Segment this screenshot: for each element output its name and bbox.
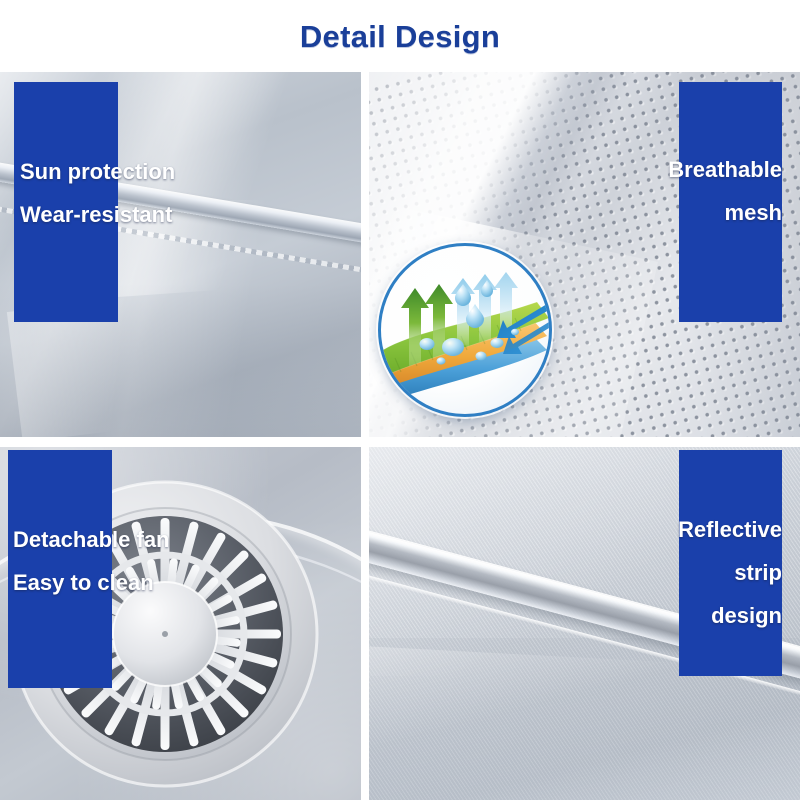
fan-hub-screw (162, 631, 168, 637)
caption-line: Wear-resistant (20, 193, 175, 236)
caption-line: strip (678, 551, 782, 594)
caption-line: Easy to clean (13, 561, 170, 604)
page-title-bar: Detail Design (0, 0, 800, 72)
caption-breathable-mesh: Breathable mesh (668, 148, 782, 234)
caption-sun-protection: Sun protection Wear-resistant (20, 150, 175, 236)
caption-line: Sun protection (20, 150, 175, 193)
page-title: Detail Design (300, 21, 500, 52)
caption-line: Detachable fan (13, 518, 170, 561)
caption-line: design (678, 594, 782, 637)
breathability-diagram (378, 243, 552, 417)
infographic-page: Detail Design (0, 0, 800, 800)
caption-line: Breathable (668, 148, 782, 191)
caption-reflective-strip: Reflective strip design (678, 508, 782, 637)
breathability-diagram-svg (381, 246, 549, 414)
caption-line: Reflective (678, 508, 782, 551)
caption-detachable-fan: Detachable fan Easy to clean (13, 518, 170, 604)
caption-line: mesh (668, 191, 782, 234)
